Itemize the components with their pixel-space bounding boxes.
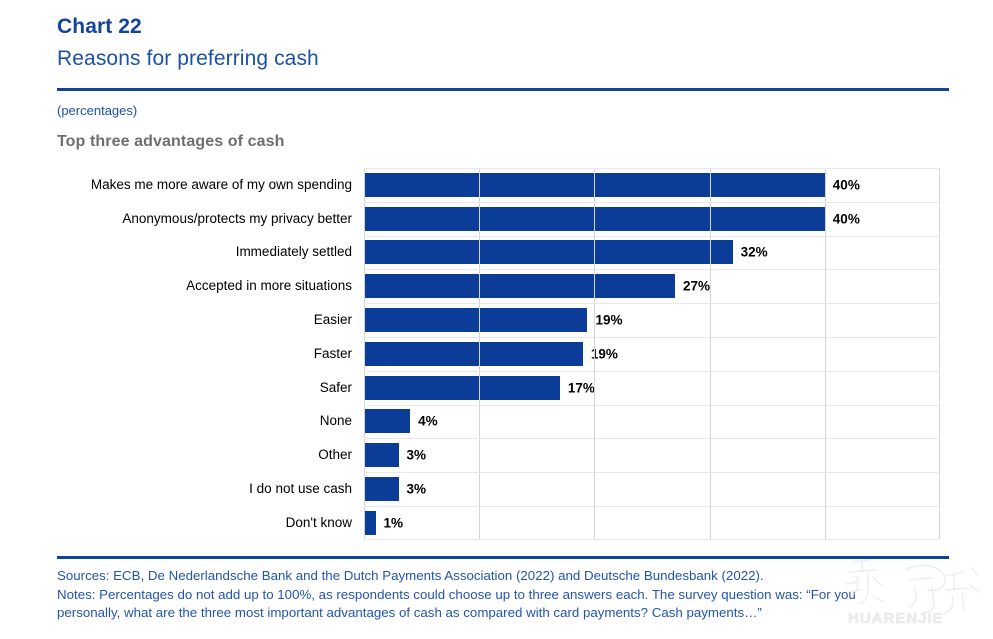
- bar-track: 1%: [364, 506, 940, 540]
- bar-value-label: 40%: [833, 211, 860, 226]
- watermark-glyph-2: [906, 565, 980, 614]
- bar-row: Other3%: [0, 438, 993, 472]
- chart-title: Reasons for preferring cash: [57, 44, 947, 74]
- bar-track: 32%: [364, 236, 940, 270]
- category-label: Easier: [314, 312, 352, 328]
- footer-divider: [57, 556, 949, 559]
- bar-value-label: 3%: [407, 482, 427, 497]
- bar-value-label: 40%: [833, 177, 860, 192]
- bar: [364, 477, 399, 501]
- category-label: Anonymous/protects my privacy better: [122, 211, 352, 227]
- category-label: I do not use cash: [249, 481, 352, 497]
- bar-track: 17%: [364, 371, 940, 405]
- bar-value-label: 19%: [595, 313, 622, 328]
- bar-track: 3%: [364, 472, 940, 506]
- bar-row: I do not use cash3%: [0, 472, 993, 506]
- panel-title: Top three advantages of cash: [57, 133, 284, 151]
- bar-track: 3%: [364, 438, 940, 472]
- bar-track: 40%: [364, 168, 940, 202]
- category-label: Makes me more aware of my own spending: [91, 177, 352, 193]
- category-label: Safer: [320, 380, 352, 396]
- bar: [364, 376, 560, 400]
- bar-track: 4%: [364, 405, 940, 439]
- bar-value-label: 3%: [407, 448, 427, 463]
- category-label: Faster: [314, 346, 352, 362]
- chart-number: Chart 22: [57, 14, 947, 40]
- bar-track: 19%: [364, 337, 940, 371]
- bar: [364, 342, 583, 366]
- bar-row: Immediately settled32%: [0, 236, 993, 270]
- footnote-sources: Sources: ECB, De Nederlandsche Bank and …: [57, 567, 887, 586]
- bar-value-label: 19%: [591, 346, 618, 361]
- bar: [364, 207, 825, 231]
- header-divider: [57, 88, 949, 91]
- bar-value-label: 4%: [418, 414, 438, 429]
- bar-value-label: 17%: [568, 380, 595, 395]
- category-label: Accepted in more situations: [186, 278, 352, 294]
- category-label: Don't know: [286, 515, 352, 531]
- bar: [364, 240, 733, 264]
- bar-chart: Makes me more aware of my own spending40…: [0, 168, 993, 540]
- bar-row: None4%: [0, 405, 993, 439]
- bar-row: Faster19%: [0, 337, 993, 371]
- bar-value-label: 32%: [741, 245, 768, 260]
- bar-track: 27%: [364, 269, 940, 303]
- bar-value-label: 1%: [384, 515, 404, 530]
- bar: [364, 409, 410, 433]
- bar-track: 19%: [364, 303, 940, 337]
- bar: [364, 308, 587, 332]
- bar-row: Makes me more aware of my own spending40…: [0, 168, 993, 202]
- category-label: Immediately settled: [236, 244, 352, 260]
- bar: [364, 443, 399, 467]
- footnote-notes: Notes: Percentages do not add up to 100%…: [57, 586, 887, 623]
- category-label: Other: [318, 447, 352, 463]
- bar: [364, 173, 825, 197]
- bar-row: Anonymous/protects my privacy better40%: [0, 202, 993, 236]
- bar-row: Safer17%: [0, 371, 993, 405]
- bar-row: Accepted in more situations27%: [0, 269, 993, 303]
- bar-value-label: 27%: [683, 279, 710, 294]
- bar: [364, 274, 675, 298]
- bar-row: Don't know1%: [0, 506, 993, 540]
- category-label: None: [320, 413, 352, 429]
- footnotes: Sources: ECB, De Nederlandsche Bank and …: [57, 567, 887, 623]
- units-label: (percentages): [57, 103, 137, 118]
- chart-header: Chart 22 Reasons for preferring cash: [57, 14, 947, 74]
- bar-track: 40%: [364, 202, 940, 236]
- bar: [364, 511, 376, 535]
- bar-row: Easier19%: [0, 303, 993, 337]
